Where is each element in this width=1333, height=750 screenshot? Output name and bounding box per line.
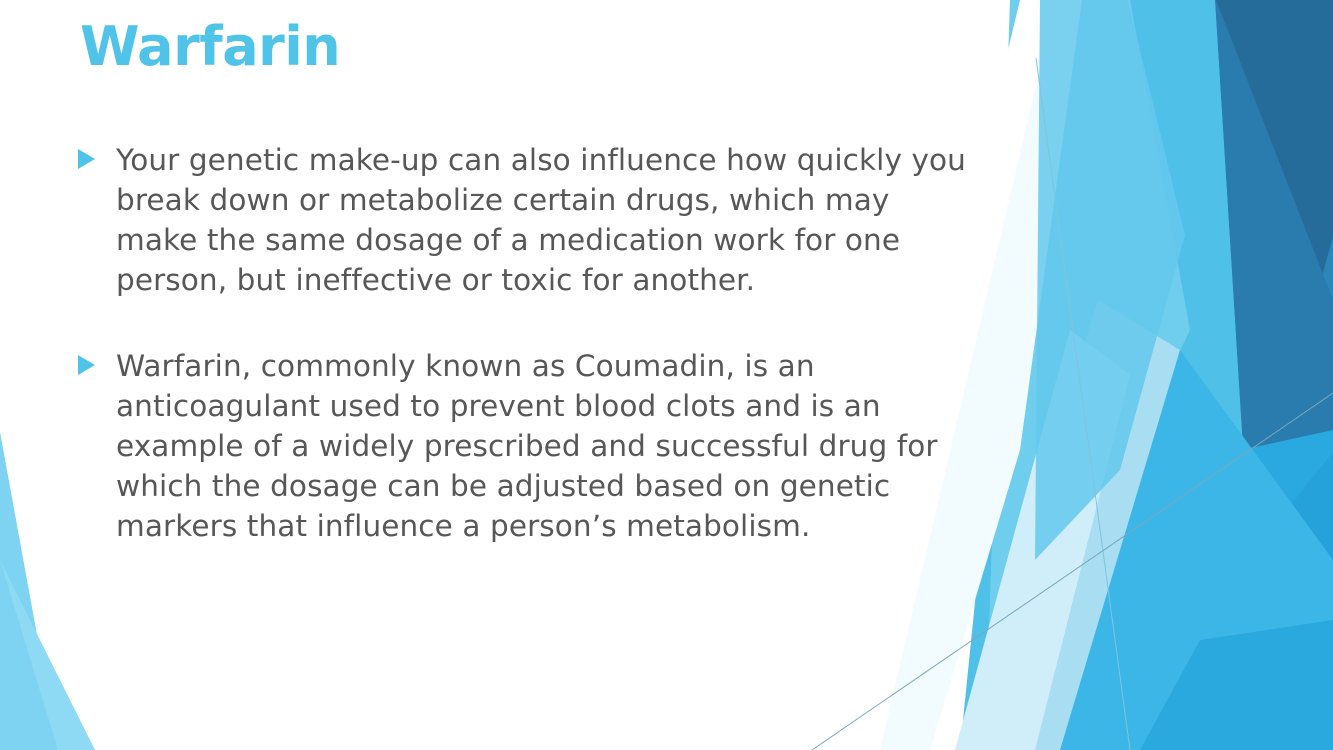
triangle-right-bullet-icon [78, 346, 116, 375]
slide-content: Warfarin Your genetic make-up can also i… [0, 0, 1000, 750]
decor-shape-bright-blue-band [960, 0, 1250, 750]
decor-shape-dark-right-band [1200, 0, 1333, 750]
decor-shape-foreground-sliver-2 [1140, 620, 1333, 750]
bullet-list: Your genetic make-up can also influence … [78, 140, 968, 592]
decor-shape-upper-sky-overlay [1035, 0, 1185, 560]
bullet-text: Your genetic make-up can also influence … [116, 140, 968, 300]
bullet-text: Warfarin, commonly known as Coumadin, is… [116, 346, 968, 546]
decor-shape-dark-center-triangle [1130, 0, 1333, 566]
decor-shape-medium-blue-right [1200, 452, 1333, 750]
page-title: Warfarin [80, 16, 340, 78]
decor-hairline-upper [1036, 58, 1130, 750]
decor-shape-foreground-sliver [1060, 350, 1333, 750]
list-item: Your genetic make-up can also influence … [78, 140, 968, 300]
decor-shape-medium-blue-sweep [1060, 430, 1333, 750]
triangle-right-bullet-icon [78, 140, 116, 169]
presentation-slide: Warfarin Your genetic make-up can also i… [0, 0, 1333, 750]
decor-shape-sky-blue-panel [985, 0, 1190, 748]
decor-shape-dark-top-right [1196, 0, 1333, 560]
list-item: Warfarin, commonly known as Coumadin, is… [78, 346, 968, 546]
